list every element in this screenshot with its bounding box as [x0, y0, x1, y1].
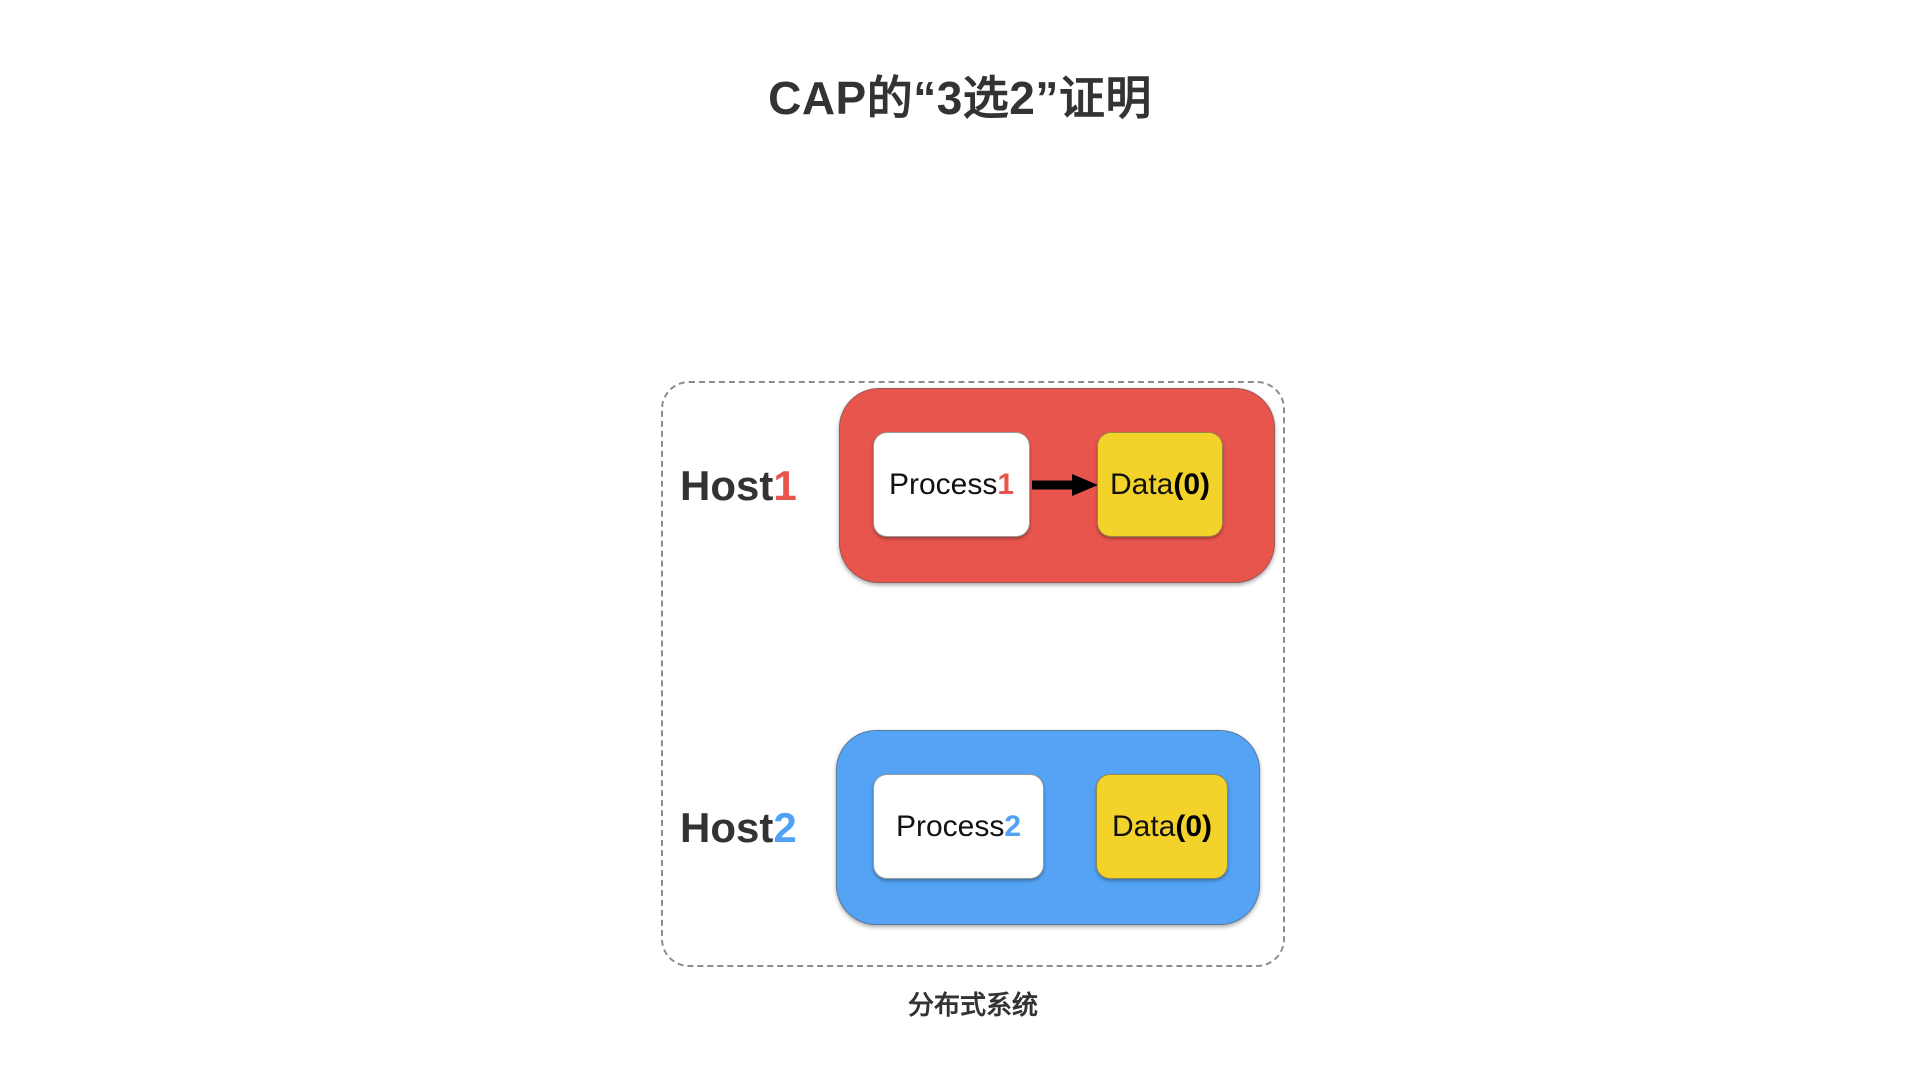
host-2-process-node[interactable]: Process2: [873, 774, 1044, 879]
host-2-data-value: (0): [1175, 810, 1212, 844]
host-1-data-value: (0): [1173, 468, 1210, 502]
page-title: CAP的“3选2”证明: [0, 62, 1920, 128]
host-2-label-text: Host: [680, 804, 773, 851]
host-1-data-label: Data: [1110, 468, 1173, 502]
host-1-write-arrow-icon: [1032, 472, 1098, 498]
host-2-label-number: 2: [773, 804, 796, 851]
host-1-data-node[interactable]: Data(0): [1097, 432, 1223, 537]
distributed-system-caption: 分布式系统: [661, 985, 1285, 1022]
host-2-process-number: 2: [1004, 810, 1021, 844]
host-1-label-number: 1: [773, 462, 796, 509]
host-1-label: Host1: [680, 465, 797, 507]
host-1-process-label: Process: [889, 468, 997, 502]
host-1-process-number: 1: [997, 468, 1014, 502]
host-2-process-label: Process: [896, 810, 1004, 844]
host-1-label-text: Host: [680, 462, 773, 509]
host-2-label: Host2: [680, 807, 797, 849]
host-2-data-node[interactable]: Data(0): [1096, 774, 1228, 879]
host-2-data-label: Data: [1112, 810, 1175, 844]
host-1-process-node[interactable]: Process1: [873, 432, 1030, 537]
